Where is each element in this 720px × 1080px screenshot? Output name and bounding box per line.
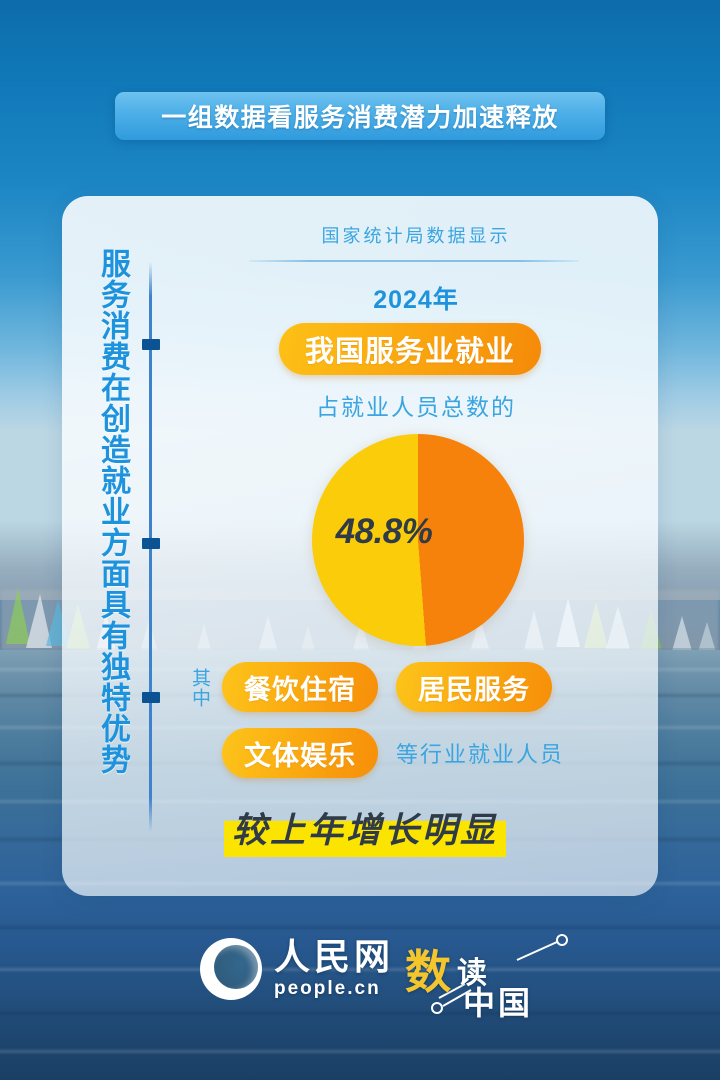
people-cn-logo: 人民网 people.cn: [200, 938, 394, 1000]
people-cn-mark-icon: [200, 938, 262, 1000]
industry-pill-resident-services-text: 居民服务: [418, 668, 530, 707]
industry-pill-row-1: 餐饮住宿 居民服务: [222, 662, 570, 712]
industry-pill-culture-sports: 文体娱乐: [222, 728, 378, 778]
subtitle-label: 占就业人员总数的: [214, 388, 618, 422]
industry-pill-catering-text: 餐饮住宿: [244, 668, 356, 707]
shudu-zhongguo-logo: 数 读 中国: [405, 934, 595, 1016]
timeline-marker-3: [142, 692, 160, 703]
industry-tail-text: 等行业就业人员: [396, 737, 564, 769]
data-source-label: 国家统计局数据显示: [214, 222, 618, 248]
people-cn-name-en: people.cn: [274, 978, 394, 1000]
title-banner-text: 一组数据看服务消费潜力加速释放: [161, 98, 559, 134]
industry-pill-row-2: 文体娱乐 等行业就业人员: [222, 728, 564, 778]
timeline-marker-1: [142, 339, 160, 350]
people-cn-wordmark: 人民网 people.cn: [274, 938, 394, 1000]
year-label: 2024年: [214, 280, 618, 316]
shudu-shu-char: 数: [405, 936, 451, 1002]
title-banner: 一组数据看服务消费潜力加速释放: [115, 92, 605, 140]
among-label: 其中: [182, 668, 210, 708]
headline-pill-text: 我国服务业就业: [305, 328, 515, 370]
shudu-zhongguo-text: 中国: [463, 978, 533, 1024]
industry-pill-culture-sports-text: 文体娱乐: [244, 734, 356, 773]
conclusion-highlight: 较上年增长明显: [224, 800, 506, 857]
header-divider: [249, 260, 579, 262]
main-content-card: 服务消费在创造就业方面具有独特优势 国家统计局数据显示 2024年 我国服务业就…: [62, 196, 658, 896]
card-content-column: 国家统计局数据显示 2024年 我国服务业就业 占就业人员总数的 48.8% 其…: [174, 196, 658, 896]
pie-chart: 48.8%: [312, 434, 524, 646]
people-cn-name-cn: 人民网: [274, 938, 394, 976]
vertical-headline: 服务消费在创造就业方面具有独特优势: [88, 248, 132, 848]
timeline-marker-2: [142, 538, 160, 549]
infographic-poster: 一组数据看服务消费潜力加速释放 服务消费在创造就业方面具有独特优势 国家统计局数…: [0, 0, 720, 1080]
pie-value-label: 48.8%: [318, 512, 450, 552]
industry-pill-resident-services: 居民服务: [396, 662, 552, 712]
industry-pill-catering: 餐饮住宿: [222, 662, 378, 712]
headline-pill: 我国服务业就业: [279, 323, 541, 375]
footer-logos: 人民网 people.cn 数 读 中国: [0, 930, 720, 1040]
conclusion-text: 较上年增长明显: [232, 811, 498, 850]
